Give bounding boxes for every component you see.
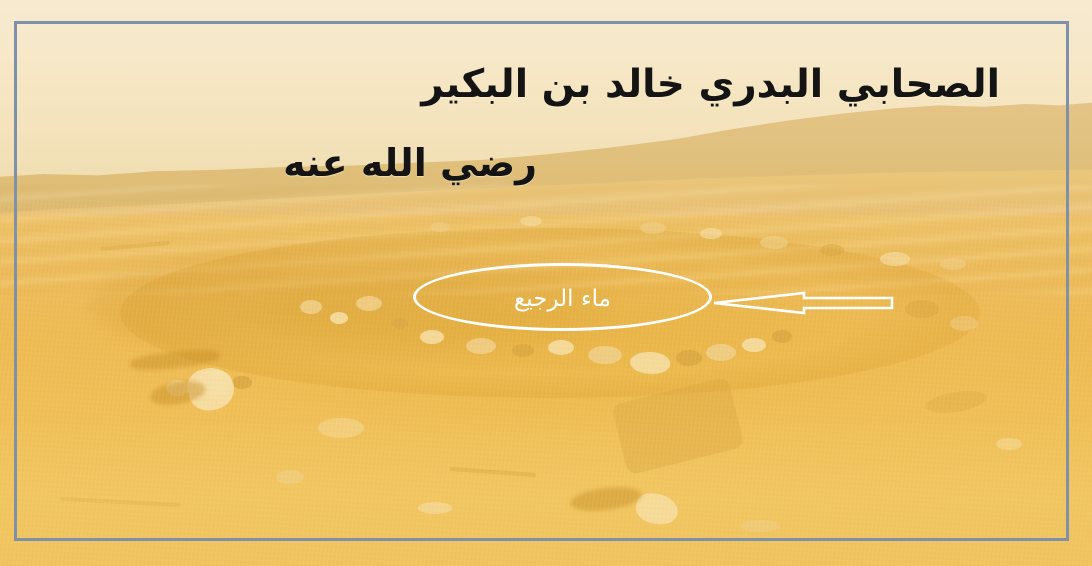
sand-grain-texture [0,200,1092,566]
page-title-line-2: رضي الله عنه [283,141,537,185]
callout-label: ماء الرجيع [514,288,611,311]
left-arrow-icon [712,287,894,319]
left-arrow-shape [712,287,894,319]
callout-ellipse: ماء الرجيع [413,263,712,331]
page-title-line-1: الصحابي البدري خالد بن البكير [421,62,1000,107]
slide-canvas: الصحابي البدري خالد بن البكير رضي الله ع… [0,0,1092,566]
